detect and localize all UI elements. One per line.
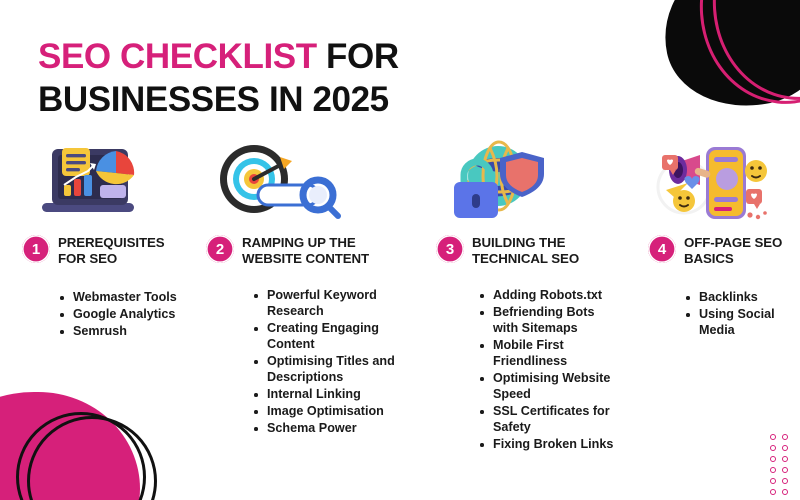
list-item: SSL Certificates for Safety: [480, 404, 620, 436]
grid-dot: [782, 456, 788, 462]
step-number-badge: 4: [648, 235, 676, 263]
title-line-2: BUSINESSES IN 2025: [38, 79, 468, 122]
grid-dot: [782, 489, 788, 495]
grid-dot: [770, 478, 776, 484]
title-line-1: SEO CHECKLIST FOR: [38, 36, 468, 79]
list-item: Image Optimisation: [254, 404, 412, 420]
padlock-globe-shield-icon: [436, 132, 620, 228]
grid-dot: [782, 478, 788, 484]
list-item: Mobile First Friendliness: [480, 338, 620, 370]
checklist-items-2: Powerful Keyword Research Creating Engag…: [206, 288, 412, 437]
list-item: Google Analytics: [60, 307, 192, 323]
social-phone-megaphone-icon: [648, 132, 794, 228]
checklist-column-4: 4 OFF-PAGE SEO BASICS Backlinks Using So…: [626, 132, 800, 454]
list-item: Using Social Media: [686, 307, 794, 339]
column-heading: RAMPING UP THE WEBSITE CONTENT: [242, 234, 412, 266]
column-header-2: 2 RAMPING UP THE WEBSITE CONTENT: [206, 234, 412, 266]
list-item: Webmaster Tools: [60, 290, 192, 306]
list-item: Optimising Website Speed: [480, 371, 620, 403]
column-header-1: 1 PREREQUISITES FOR SEO: [22, 234, 192, 266]
list-item: Schema Power: [254, 421, 412, 437]
checklist-items-1: Webmaster Tools Google Analytics Semrush: [22, 290, 192, 340]
column-header-4: 4 OFF-PAGE SEO BASICS: [648, 234, 794, 266]
list-item: Creating Engaging Content: [254, 321, 412, 353]
checklist-columns: 1 PREREQUISITES FOR SEO Webmaster Tools …: [0, 132, 800, 454]
column-heading: PREREQUISITES FOR SEO: [58, 234, 192, 266]
title-rest-text: FOR: [317, 37, 399, 76]
list-item: Befriending Bots with Sitemaps: [480, 305, 620, 337]
step-number-badge: 3: [436, 235, 464, 263]
column-heading: BUILDING THE TECHNICAL SEO: [472, 234, 620, 266]
checklist-items-3: Adding Robots.txt Befriending Bots with …: [436, 288, 620, 453]
grid-dot: [782, 467, 788, 473]
list-item: Powerful Keyword Research: [254, 288, 412, 320]
grid-dot: [770, 489, 776, 495]
column-header-3: 3 BUILDING THE TECHNICAL SEO: [436, 234, 620, 266]
title-accent-text: SEO CHECKLIST: [38, 37, 317, 76]
infographic-canvas: SEO CHECKLIST FOR BUSINESSES IN 2025: [0, 0, 800, 500]
checklist-column-3: 3 BUILDING THE TECHNICAL SEO Adding Robo…: [418, 132, 626, 454]
checklist-column-2: 2 RAMPING UP THE WEBSITE CONTENT Powerfu…: [198, 132, 418, 454]
list-item: Fixing Broken Links: [480, 437, 620, 453]
list-item: Backlinks: [686, 290, 794, 306]
list-item: Semrush: [60, 324, 192, 340]
page-title: SEO CHECKLIST FOR BUSINESSES IN 2025: [38, 36, 468, 121]
list-item: Adding Robots.txt: [480, 288, 620, 304]
list-item: Internal Linking: [254, 387, 412, 403]
checklist-column-1: 1 PREREQUISITES FOR SEO Webmaster Tools …: [0, 132, 198, 454]
grid-dot: [770, 456, 776, 462]
analytics-dashboard-icon: [22, 132, 192, 228]
target-search-icon: [206, 132, 412, 228]
column-heading: OFF-PAGE SEO BASICS: [684, 234, 794, 266]
step-number-badge: 1: [22, 235, 50, 263]
grid-dot: [770, 467, 776, 473]
step-number-badge: 2: [206, 235, 234, 263]
checklist-items-4: Backlinks Using Social Media: [648, 290, 794, 339]
list-item: Optimising Titles and Descriptions: [254, 354, 412, 386]
